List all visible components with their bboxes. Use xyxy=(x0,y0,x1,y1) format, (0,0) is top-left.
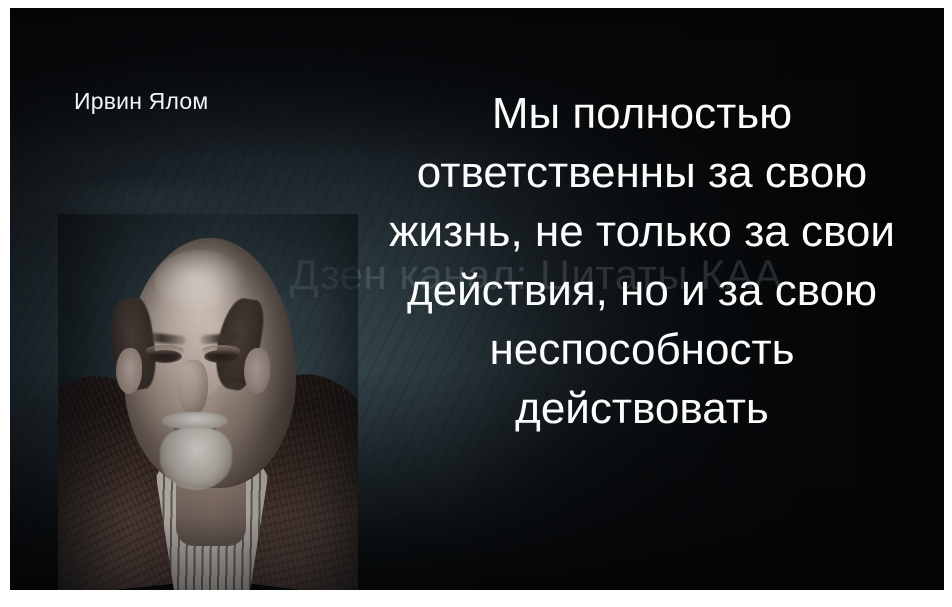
image-frame: Дзен канал: Цитаты КАА xyxy=(0,0,952,607)
quote-line: действовать xyxy=(340,379,944,438)
goatee-beard xyxy=(160,428,232,490)
bald-crown-highlight xyxy=(154,250,246,312)
quote-line: неспособность xyxy=(340,320,944,379)
author-portrait xyxy=(58,214,358,590)
quote-line: действия, но и за свою xyxy=(340,261,944,320)
quote-line: Мы полностью xyxy=(340,84,944,143)
nose xyxy=(178,360,208,416)
ear-left xyxy=(116,348,142,394)
eyelid-right xyxy=(202,345,240,355)
quote-line: жизнь, не только за свои xyxy=(340,202,944,261)
quote-line: ответственны за свою xyxy=(340,143,944,202)
quote-card: Дзен канал: Цитаты КАА xyxy=(10,8,944,590)
author-name: Ирвин Ялом xyxy=(74,88,208,116)
quote-text: Мы полностью ответственны за свою жизнь,… xyxy=(340,84,944,438)
portrait-illustration xyxy=(58,214,358,590)
eyelid-left xyxy=(146,345,184,355)
